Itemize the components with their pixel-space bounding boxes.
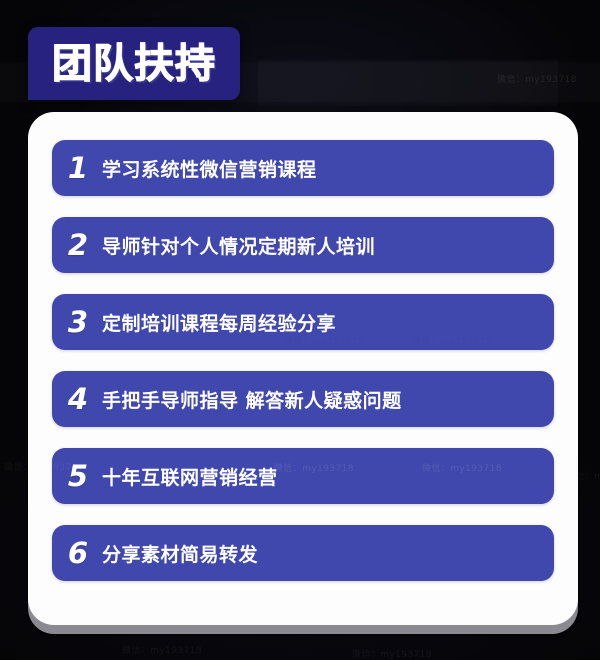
list-item-label: 学习系统性微信营销课程 xyxy=(100,155,554,182)
poster-root: 团队扶持 1 学习系统性微信营销课程 2 导师针对个人情况定期新人培训 3 定制… xyxy=(0,0,600,660)
list-item[interactable]: 6 分享素材简易转发 xyxy=(52,525,554,581)
watermark: 微信：my193718 xyxy=(122,643,202,656)
list-item[interactable]: 3 定制培训课程每周经验分享 微信：my193718 微信：my193718 xyxy=(52,294,554,350)
list-item[interactable]: 2 导师针对个人情况定期新人培训 xyxy=(52,217,554,273)
list-item-label: 十年互联网营销经营 xyxy=(100,463,554,490)
header-badge: 团队扶持 xyxy=(28,27,240,100)
list-item[interactable]: 5 十年互联网营销经营 微信：my193718 微信：my193718 xyxy=(52,448,554,504)
list-item-number: 3 xyxy=(52,308,100,337)
watermark: 微信：my193718 xyxy=(497,72,577,85)
list-item[interactable]: 1 学习系统性微信营销课程 xyxy=(52,140,554,196)
list-item-label: 分享素材简易转发 xyxy=(100,540,554,567)
list-item-label: 定制培训课程每周经验分享 xyxy=(100,309,554,336)
page-title: 团队扶持 xyxy=(52,44,216,84)
list-item-label: 手把手导师指导 解答新人疑惑问题 xyxy=(100,386,554,413)
list-item-number: 4 xyxy=(52,385,100,414)
background-band-right xyxy=(258,60,558,106)
list-item-number: 2 xyxy=(52,231,100,260)
watermark: 微信：my193718 xyxy=(284,334,364,347)
list-item-number: 1 xyxy=(52,154,100,183)
list-item-number: 5 xyxy=(52,462,100,491)
list-item-number: 6 xyxy=(52,539,100,568)
watermark: 微信：my193718 xyxy=(352,647,432,660)
benefit-list: 1 学习系统性微信营销课程 2 导师针对个人情况定期新人培训 3 定制培训课程每… xyxy=(28,112,578,581)
list-item[interactable]: 4 手把手导师指导 解答新人疑惑问题 xyxy=(52,371,554,427)
watermark: 微信：my193718 xyxy=(412,334,492,347)
list-item-label: 导师针对个人情况定期新人培训 xyxy=(100,232,554,259)
content-card: 1 学习系统性微信营销课程 2 导师针对个人情况定期新人培训 3 定制培训课程每… xyxy=(28,112,578,625)
